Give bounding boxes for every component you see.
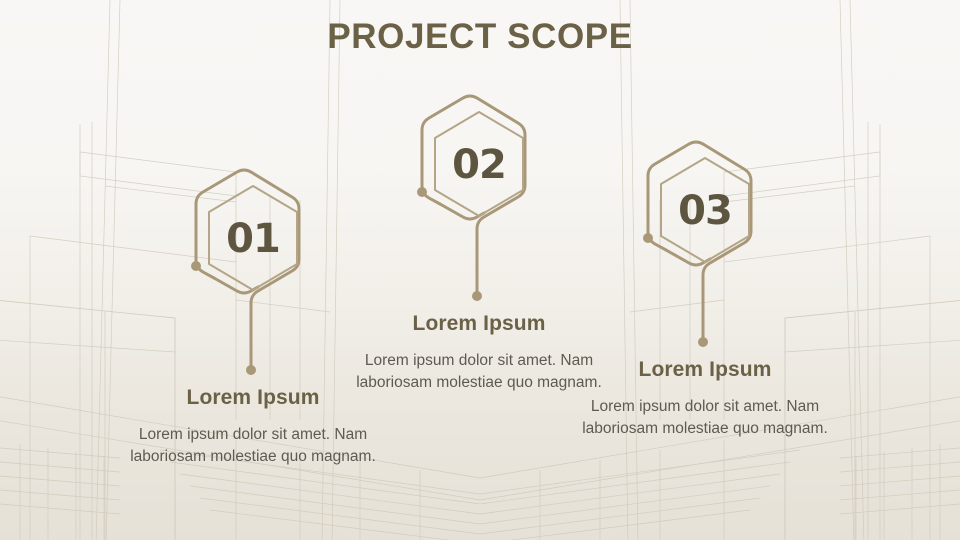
hexagon-outer-right-path — [477, 98, 525, 294]
scope-body-1: Lorem ipsum dolor sit amet. Nam laborios… — [103, 424, 403, 468]
hexagon-badge-1[interactable]: 01 — [173, 160, 333, 390]
connector-dot-left — [417, 187, 427, 197]
connector-dot-left — [643, 233, 653, 243]
step-number-3: 03 — [625, 188, 785, 234]
connector-dot-left — [191, 261, 201, 271]
hexagon-badge-3[interactable]: 03 — [625, 132, 785, 362]
hexagon-outer-right-path — [703, 144, 751, 340]
connector-dot-bottom — [472, 291, 482, 301]
page-title: PROJECT SCOPE — [0, 17, 960, 57]
hexagon-outer-right-path — [251, 172, 299, 368]
scope-item-3[interactable]: 03 Lorem Ipsum Lorem ipsum dolor sit ame… — [555, 132, 855, 440]
step-number-1: 01 — [173, 216, 333, 262]
hexagon-badge-2[interactable]: 02 — [399, 86, 559, 316]
step-number-2: 02 — [399, 142, 559, 188]
connector-dot-bottom — [246, 365, 256, 375]
scope-body-3: Lorem ipsum dolor sit amet. Nam laborios… — [555, 396, 855, 440]
slide-canvas: PROJECT SCOPE 01 Lorem Ipsum Lorem ipsum… — [0, 0, 960, 540]
connector-dot-bottom — [698, 337, 708, 347]
